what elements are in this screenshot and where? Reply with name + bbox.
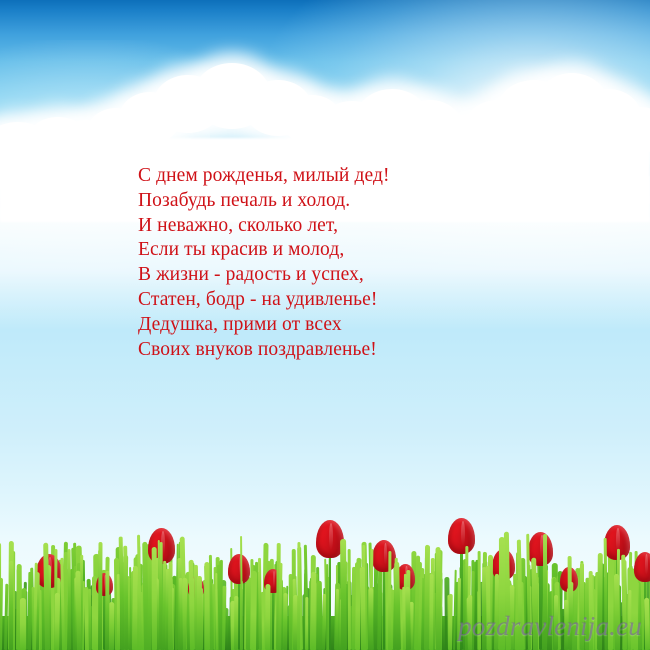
poem-line: Дедушка, прими от всех xyxy=(138,313,558,338)
grass-blade xyxy=(98,541,102,650)
greeting-card: С днем рожденья, милый дед! Позабудь печ… xyxy=(0,0,650,650)
grass-blade xyxy=(258,558,262,650)
grass-blade xyxy=(597,553,603,650)
poem-line: С днем рожденья, милый дед! xyxy=(138,164,558,189)
grass-blade xyxy=(105,571,109,650)
poem-text: С днем рожденья, милый дед! Позабудь печ… xyxy=(138,164,558,362)
grass-blade xyxy=(305,597,309,650)
poem-line: Позабудь печаль и холод. xyxy=(138,189,558,214)
grass-blade xyxy=(436,547,442,650)
grass-blade xyxy=(580,563,584,650)
tulip-stem xyxy=(539,562,542,650)
grass-blade xyxy=(54,592,60,650)
grass-blade xyxy=(68,549,72,650)
tulip-stem xyxy=(460,550,463,650)
grass-blade xyxy=(477,551,480,650)
grass-blade xyxy=(197,576,202,650)
grass-blade xyxy=(109,602,114,650)
grass-blade xyxy=(265,584,270,650)
grass-blade xyxy=(132,566,138,650)
grass-blade xyxy=(152,547,157,650)
grass-blade xyxy=(448,594,452,650)
tulip-flower xyxy=(228,554,250,584)
poem-line: В жизни - радость и успех, xyxy=(138,263,558,288)
grass-blade xyxy=(368,588,373,650)
grass-blade xyxy=(20,598,26,650)
poem-line: Статен, бодр - на удивленье! xyxy=(138,288,558,313)
grass-blade xyxy=(0,543,1,650)
poem-line: И неважно, сколько лет, xyxy=(138,214,558,239)
tulip-bud xyxy=(372,540,396,572)
grass-blade xyxy=(204,561,210,650)
tulip-bud xyxy=(448,518,475,554)
tulip-flower xyxy=(634,552,650,582)
grass-blade xyxy=(429,574,433,650)
tulip-bud xyxy=(228,554,250,584)
poem-line: Если ты красив и молод, xyxy=(138,238,558,263)
grass-blade xyxy=(499,537,505,650)
tulip-stem xyxy=(272,589,275,650)
tulip-flower xyxy=(448,518,475,554)
poem-line: Своих внуков поздравленье! xyxy=(138,338,558,363)
grass-blade xyxy=(554,595,558,650)
tulip-stem xyxy=(329,554,332,650)
grass-field xyxy=(0,515,650,650)
tulip-flower xyxy=(372,540,396,572)
grass-blade xyxy=(351,567,356,650)
grass-blade xyxy=(543,534,547,650)
grass-blade xyxy=(123,545,129,650)
tulip-stem xyxy=(383,568,386,650)
grass-blade xyxy=(388,551,391,650)
grass-blade xyxy=(340,538,346,650)
tulip-bud xyxy=(634,552,650,582)
